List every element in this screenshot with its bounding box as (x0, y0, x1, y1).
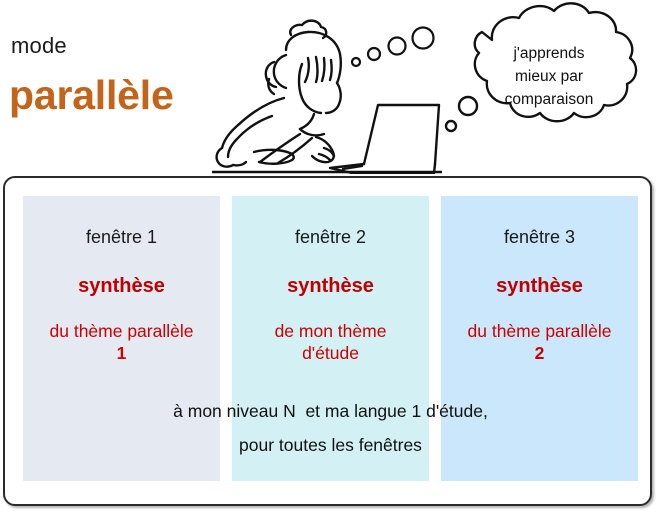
window-2-title: fenêtre 2 (232, 226, 429, 248)
window-3-number: 2 (445, 342, 634, 364)
window-2-synthese: synthèse (232, 274, 429, 298)
window-column-2[interactable]: fenêtre 2 synthèse de mon thème d'étude (232, 196, 429, 481)
mode-label: mode (11, 33, 67, 59)
thought-dots-icon (348, 18, 458, 76)
window-3-subject-text: du thème parallèle (468, 321, 612, 341)
window-2-subject: de mon thème d'étude (232, 320, 429, 364)
bubble-line-2: mieux par (515, 66, 583, 87)
windows-columns: fenêtre 1 synthèse du thème parallèle 1 … (23, 196, 638, 481)
thought-bubble-icon: j'apprends mieux par comparaison (444, 2, 654, 147)
window-1-number: 1 (27, 342, 216, 364)
window-3-subject: du thème parallèle 2 (441, 320, 638, 364)
window-2-subject-text: de mon thème (275, 321, 387, 341)
bubble-line-1: j'apprends (513, 43, 584, 64)
window-1-synthese: synthèse (23, 274, 220, 298)
window-2-number: d'étude (236, 342, 425, 364)
window-1-subject: du thème parallèle 1 (23, 320, 220, 364)
parallel-mode-panel: fenêtre 1 synthèse du thème parallèle 1 … (3, 176, 652, 506)
window-column-1[interactable]: fenêtre 1 synthèse du thème parallèle 1 (23, 196, 220, 481)
window-3-synthese: synthèse (441, 274, 638, 298)
window-3-title: fenêtre 3 (441, 226, 638, 248)
thought-bubble-text: j'apprends mieux par comparaison (444, 2, 654, 147)
window-column-3[interactable]: fenêtre 3 synthèse du thème parallèle 2 (441, 196, 638, 481)
bubble-line-3: comparaison (505, 89, 594, 110)
window-1-title: fenêtre 1 (23, 226, 220, 248)
window-1-subject-text: du thème parallèle (50, 321, 194, 341)
mode-name-title: parallèle (9, 70, 174, 120)
